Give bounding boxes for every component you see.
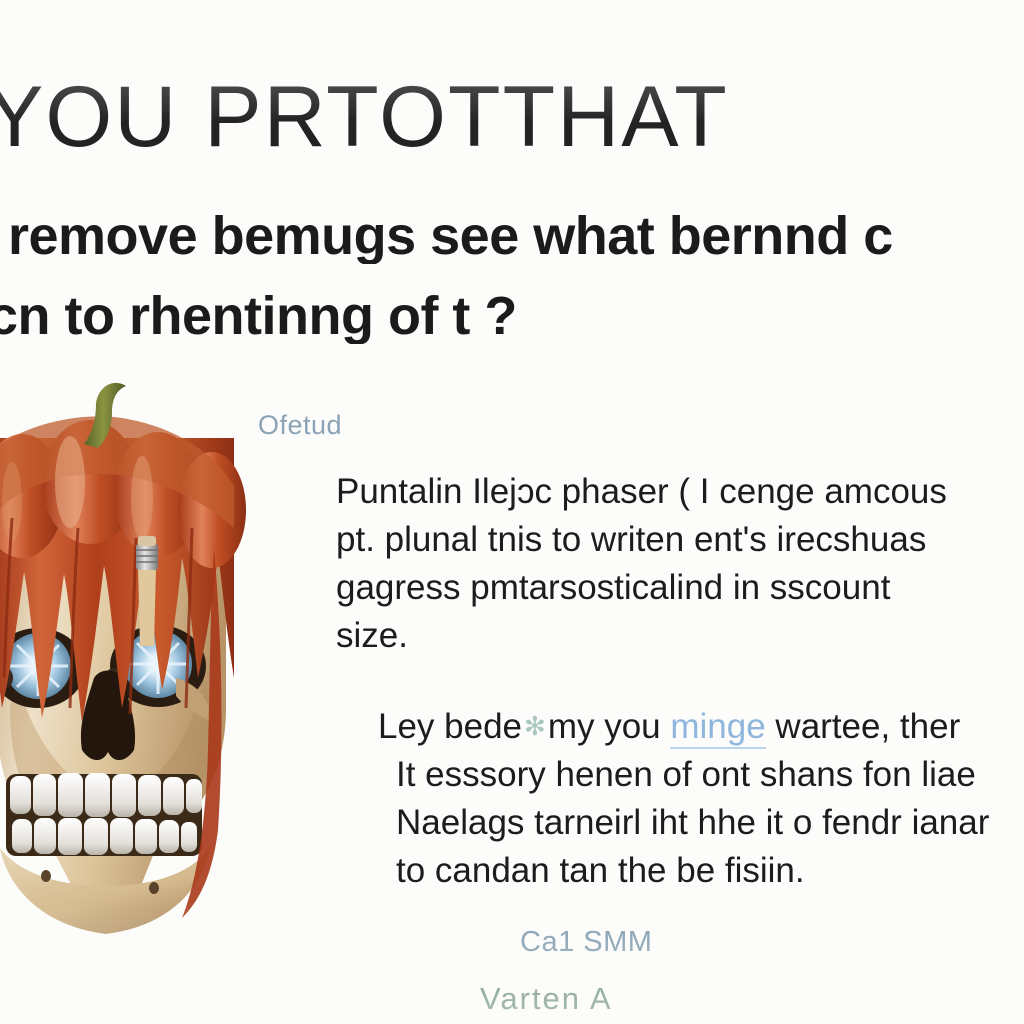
paragraph-2-line-1-after: wartee, ther (766, 707, 961, 746)
footer-line-1: Ca1 SMM (258, 923, 1024, 961)
paragraph-1: Puntalin Ilejɔc phaser ( I cenge amcous … (258, 468, 1024, 660)
skull-pumpkin-illustration (0, 378, 254, 950)
paragraph-1-line-2: pt. plunal tnis to writen ent's irecshua… (336, 516, 1024, 564)
footer-line-2: Varten A (258, 979, 1024, 1019)
article-content: Ofetud Puntalin Ilejɔc phaser ( I cenge … (258, 408, 1024, 1019)
subtitle-line-2: cn to rhentinng of t ? (0, 288, 1024, 344)
paragraph-2: Ley bede✻my you minge wartee, ther It es… (258, 702, 1024, 895)
content-kicker: Ofetud (258, 408, 1024, 442)
paragraph-2-line-2: It esssory henen of ont shans fon liae (396, 751, 1024, 799)
paragraph-1-line-1: Puntalin Ilejɔc phaser ( I cenge amcous (336, 468, 1024, 516)
page-root: YOU PRTOTTHAT remove bemugs see what ber… (0, 0, 1024, 1024)
page-title: YOU PRTOTTHAT (0, 74, 1024, 160)
paragraph-1-line-3: gagress pmtarsosticalind in sscount (336, 564, 1024, 612)
paragraph-1-line-4: size. (336, 612, 1024, 660)
teeth-lower (12, 818, 197, 855)
paragraph-2-line-1-before: Ley bede (378, 707, 522, 746)
subtitle-line-1: remove bemugs see what bernnd c (8, 208, 1024, 264)
inline-link[interactable]: minge (670, 707, 765, 749)
teeth-upper (10, 773, 202, 817)
paragraph-2-line-1: Ley bede✻my you minge wartee, ther (378, 702, 1024, 751)
asterisk-icon: ✻ (522, 711, 548, 741)
paragraph-2-line-1-mid: my you (548, 707, 671, 746)
paragraph-2-line-3: Naelags tarneirl iht hhe it o fendr iana… (396, 799, 1024, 847)
paragraph-2-line-4: to candan tan the be fisiin. (396, 847, 1024, 895)
